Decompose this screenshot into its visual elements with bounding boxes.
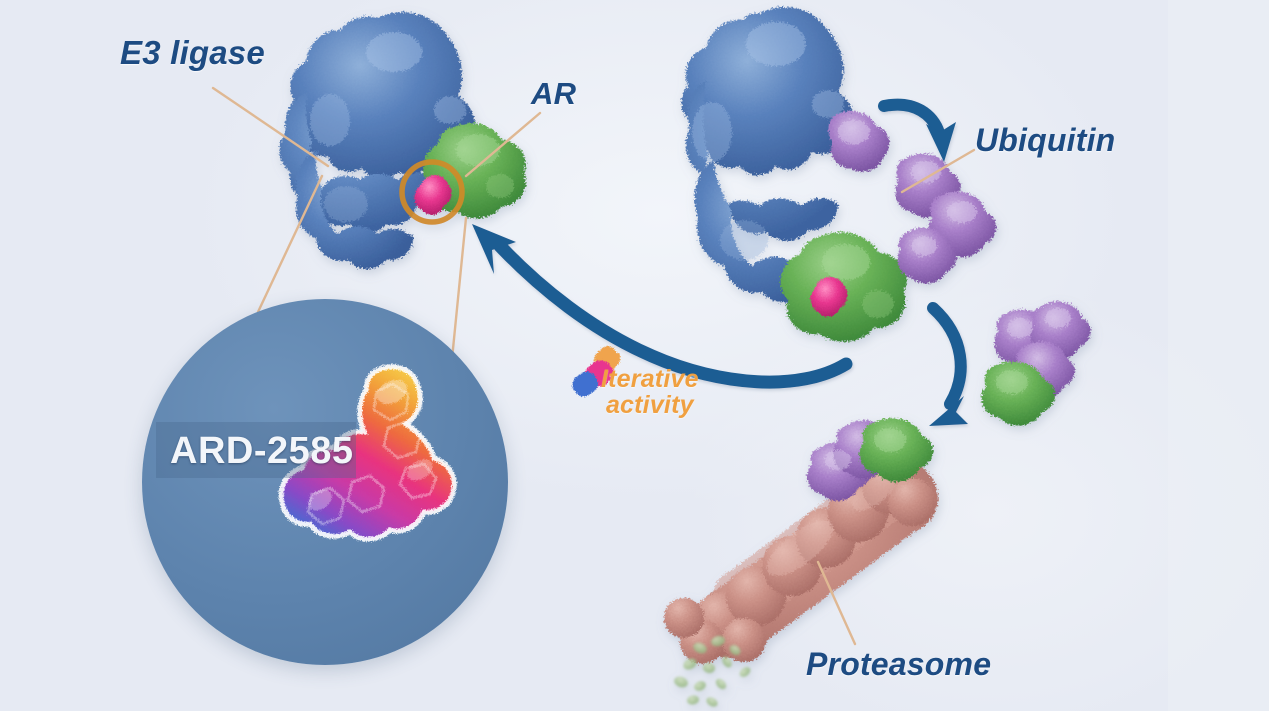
- label-ubiquitin: Ubiquitin: [975, 124, 1115, 157]
- label-iterative-line2: activity: [601, 393, 699, 419]
- compound-label: ARD-2585: [170, 430, 354, 473]
- compound-molecule-layer: [0, 0, 1269, 711]
- figure-canvas: ARD-2585 E3 ligase AR Ubiquitin Proteaso…: [0, 0, 1269, 711]
- label-iterative-line1: Iterative: [601, 367, 699, 393]
- label-ar: AR: [531, 78, 576, 110]
- label-iterative-activity: Iterative activity: [601, 367, 699, 418]
- label-e3-ligase: E3 ligase: [120, 36, 265, 70]
- label-proteasome: Proteasome: [806, 648, 991, 681]
